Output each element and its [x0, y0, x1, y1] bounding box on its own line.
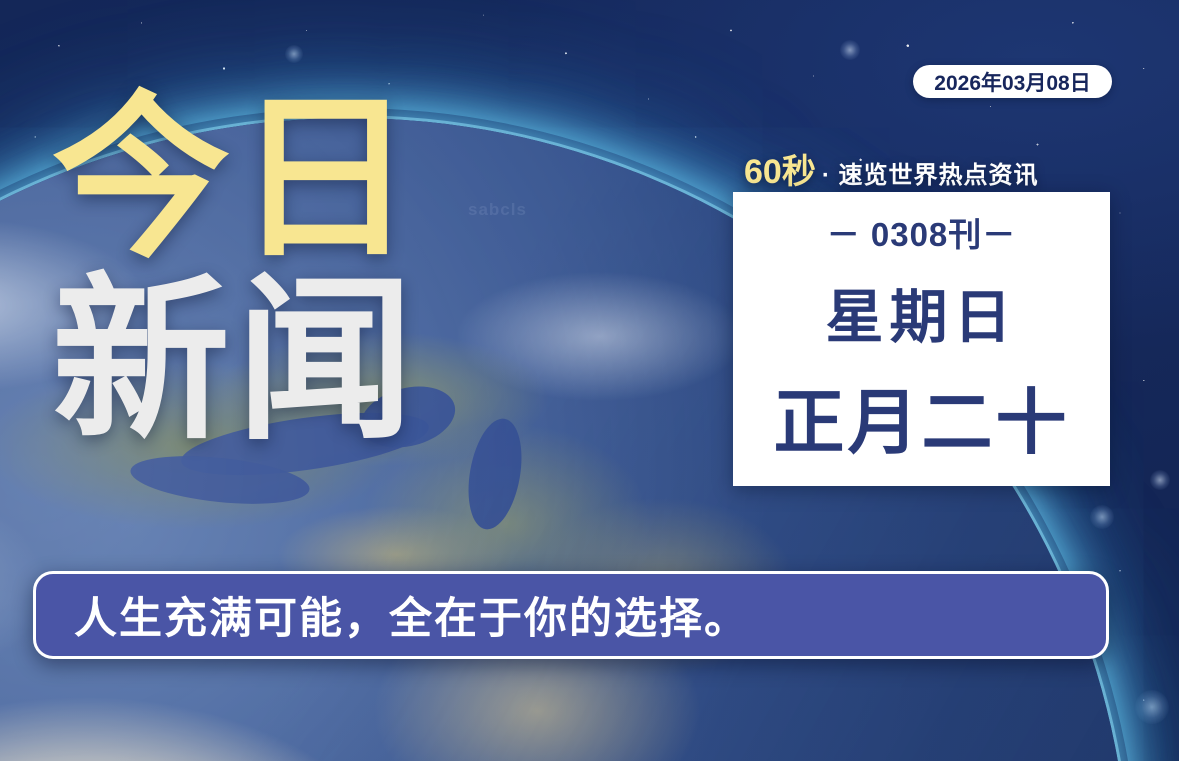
- star-glow-icon: [1135, 690, 1169, 724]
- masthead-line-1: 今日: [52, 92, 420, 266]
- star-glow-icon: [840, 40, 860, 60]
- weekday: 星期日: [825, 270, 1017, 354]
- lake-inland: [0, 656, 1, 701]
- issue-info-card: － 0308刊－ 星期日 正月二十: [733, 192, 1110, 486]
- star-glow-icon: [285, 45, 303, 63]
- date-badge-label: 2026年03月08日: [934, 67, 1090, 97]
- tagline-rest: · 速览世界热点资讯: [822, 155, 1039, 190]
- tagline-seconds: 60秒: [744, 144, 816, 193]
- caspian-sea: [461, 415, 530, 534]
- news-poster: sabcls 今日 新闻 2026年03月08日 60秒 · 速览世界热点资讯 …: [0, 0, 1179, 761]
- quote-text: 人生充满可能，全在于你的选择。: [74, 584, 749, 646]
- date-badge: 2026年03月08日: [913, 65, 1112, 98]
- star-glow-icon: [1150, 470, 1170, 490]
- quote-banner: 人生充满可能，全在于你的选择。: [33, 571, 1109, 659]
- issue-number: － 0308刊－: [827, 208, 1017, 256]
- masthead: 今日 新闻: [52, 92, 420, 449]
- background-watermark: sabcls: [468, 200, 527, 220]
- tagline: 60秒 · 速览世界热点资讯: [744, 144, 1039, 193]
- masthead-line-2: 新闻: [52, 274, 420, 448]
- lunar-date: 正月二十: [773, 366, 1069, 468]
